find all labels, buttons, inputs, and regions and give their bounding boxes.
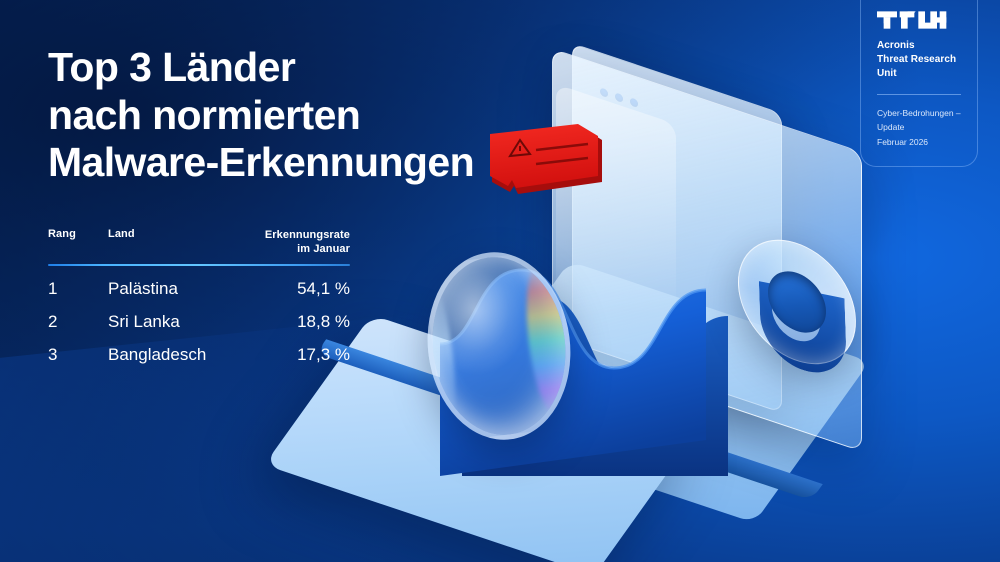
cell-rank: 2 bbox=[48, 312, 108, 332]
title-line-3: Malware-Erkennungen bbox=[48, 139, 568, 187]
cell-country: Palästina bbox=[108, 279, 235, 299]
badge-sub-line-3: Februar 2026 bbox=[877, 135, 961, 150]
page-title: Top 3 Länder nach normierten Malware-Erk… bbox=[48, 44, 568, 187]
table-row: 3 Bangladesch 17,3 % bbox=[48, 332, 350, 365]
tru-wordmark-logo bbox=[877, 10, 949, 30]
cell-rank: 3 bbox=[48, 345, 108, 365]
cell-rank: 1 bbox=[48, 279, 108, 299]
badge-title-line-1: Acronis bbox=[877, 39, 961, 53]
table-header-row: Rang Land Erkennungsrate im Januar bbox=[48, 228, 350, 256]
table-row: 2 Sri Lanka 18,8 % bbox=[48, 299, 350, 332]
title-line-1: Top 3 Länder bbox=[48, 44, 568, 92]
column-header-rank: Rang bbox=[48, 228, 108, 240]
badge-title-line-2: Threat Research bbox=[877, 53, 961, 67]
tru-badge: Acronis Threat Research Unit Cyber-Bedro… bbox=[860, 0, 978, 167]
badge-divider bbox=[877, 94, 961, 95]
cell-country: Bangladesch bbox=[108, 345, 235, 365]
cell-country: Sri Lanka bbox=[108, 312, 235, 332]
badge-subtitle: Cyber-Bedrohungen – Update Februar 2026 bbox=[877, 106, 961, 151]
column-header-rate-line2: im Januar bbox=[235, 242, 350, 256]
cell-rate: 18,8 % bbox=[235, 312, 350, 332]
table-row: 1 Palästina 54,1 % bbox=[48, 266, 350, 299]
column-header-rate: Erkennungsrate im Januar bbox=[235, 228, 350, 256]
badge-sub-line-1: Cyber-Bedrohungen – bbox=[877, 106, 961, 121]
badge-sub-line-2: Update bbox=[877, 120, 961, 135]
cell-rate: 17,3 % bbox=[235, 345, 350, 365]
badge-title-line-3: Unit bbox=[877, 67, 961, 81]
cell-rate: 54,1 % bbox=[235, 279, 350, 299]
badge-title: Acronis Threat Research Unit bbox=[877, 39, 961, 82]
column-header-rate-line1: Erkennungsrate bbox=[235, 228, 350, 242]
title-line-2: nach normierten bbox=[48, 92, 568, 140]
column-header-country: Land bbox=[108, 228, 235, 240]
ranking-table: Rang Land Erkennungsrate im Januar 1 Pal… bbox=[48, 228, 350, 365]
